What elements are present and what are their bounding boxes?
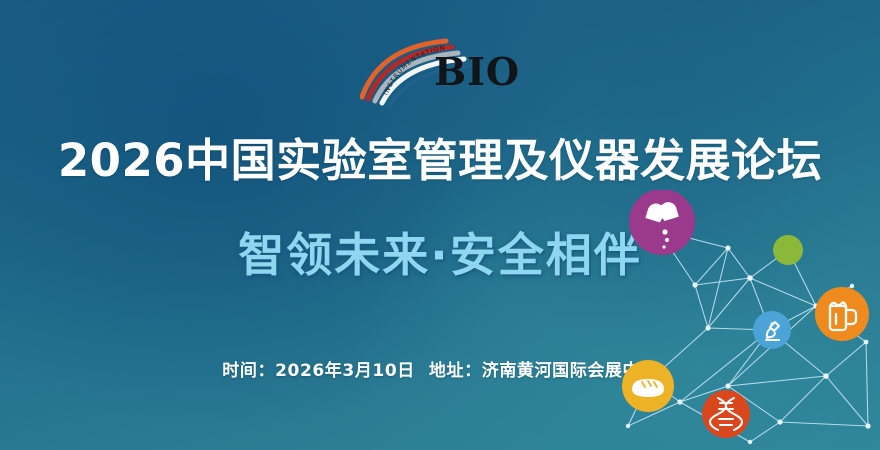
brand-logo: INSTRUMENTATION BIO <box>0 36 880 110</box>
event-meta-line: 时间：2026年3月10日地址：济南黄河国际会展中心 <box>0 356 880 381</box>
address-value: 济南黄河国际会展中心 <box>482 361 658 381</box>
event-headline: 2026中国实验室管理及仪器发展论坛 <box>0 138 880 183</box>
beer-mug-icon <box>815 287 869 341</box>
address-label: 地址： <box>429 361 482 381</box>
decorative-network-graphic <box>620 190 880 450</box>
event-subtitle-slogan: 智领未来·安全相伴 <box>0 232 880 278</box>
dna-helix-icon <box>702 390 750 438</box>
time-label: 时间： <box>222 361 275 381</box>
logo-wordmark: BIO <box>434 49 520 94</box>
event-poster: INSTRUMENTATION BIO 2026中国实验室管理及仪器发展论坛 智… <box>0 0 880 450</box>
time-value: 2026年3月10日 <box>275 361 415 381</box>
bio-logo-svg: INSTRUMENTATION BIO <box>360 37 520 109</box>
microscope-icon <box>753 311 791 349</box>
